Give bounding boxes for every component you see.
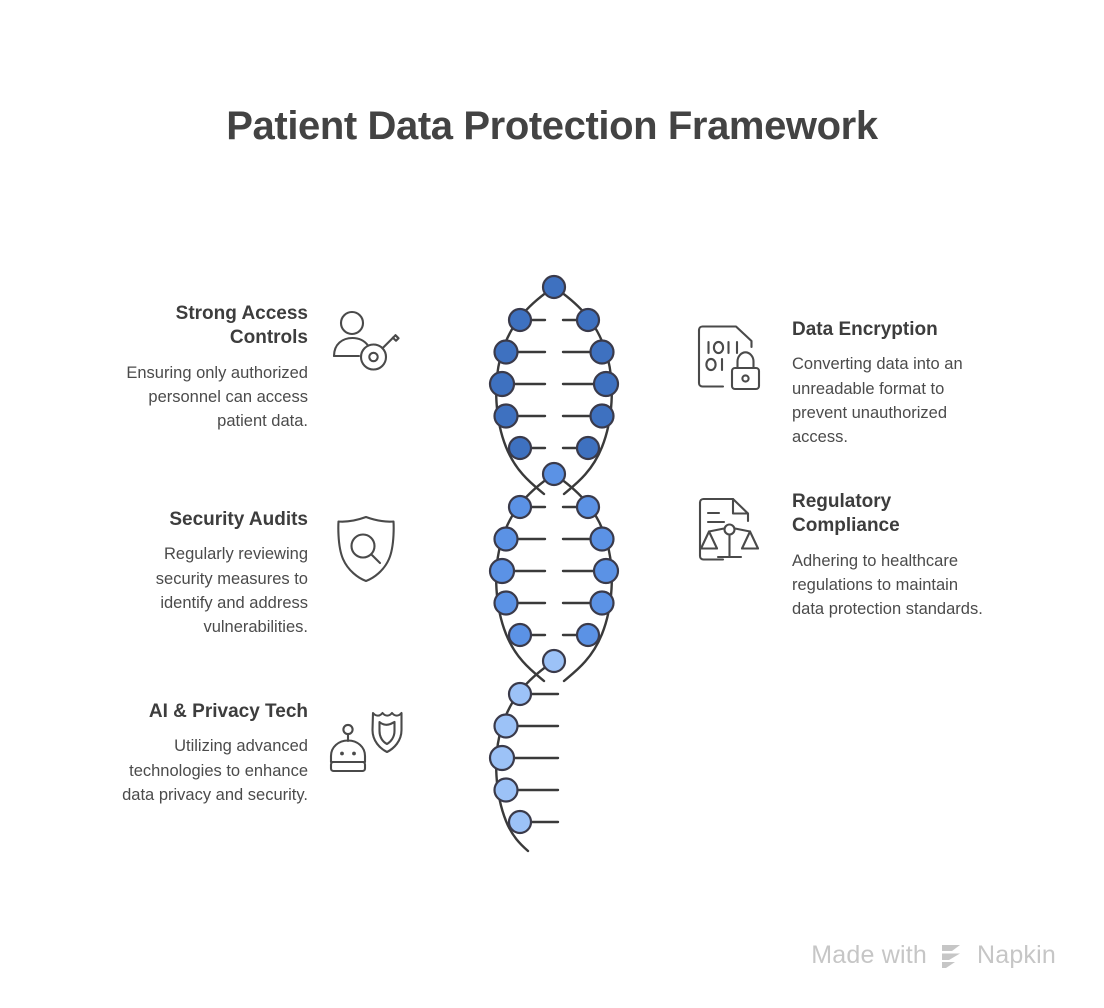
feature-item-regulatory-compliance: Regulatory Compliance Adhering to health… xyxy=(690,490,992,621)
feature-text-block: Strong Access Controls Ensuring only aut… xyxy=(108,302,308,433)
feature-title: Regulatory Compliance xyxy=(792,490,992,539)
napkin-watermark: Made with Napkin xyxy=(811,941,1056,970)
feature-title: Security Audits xyxy=(108,508,308,532)
watermark-brand: Napkin xyxy=(977,941,1056,970)
feature-text-block: AI & Privacy Tech Utilizing advanced tec… xyxy=(108,700,308,807)
robot-shield-icon xyxy=(326,700,406,780)
feature-description: Converting data into an unreadable forma… xyxy=(792,352,992,449)
feature-text-block: Security Audits Regularly reviewing secu… xyxy=(108,508,308,639)
feature-item-ai-privacy-tech: AI & Privacy Tech Utilizing advanced tec… xyxy=(108,700,406,807)
watermark-prefix: Made with xyxy=(811,941,927,970)
feature-description: Regularly reviewing security measures to… xyxy=(108,542,308,639)
dna-helix-graphic xyxy=(440,262,670,877)
napkin-logo-icon xyxy=(938,943,966,969)
shield-magnifier-icon xyxy=(326,508,406,588)
document-scales-icon xyxy=(690,490,770,570)
feature-text-block: Data Encryption Converting data into an … xyxy=(792,318,992,449)
feature-title: Data Encryption xyxy=(792,318,992,342)
feature-title: Strong Access Controls xyxy=(108,302,308,351)
feature-title: AI & Privacy Tech xyxy=(108,700,308,724)
encrypted-document-lock-icon xyxy=(690,318,770,398)
feature-description: Adhering to healthcare regulations to ma… xyxy=(792,549,992,622)
feature-item-data-encryption: Data Encryption Converting data into an … xyxy=(690,318,992,449)
feature-item-strong-access-controls: Strong Access Controls Ensuring only aut… xyxy=(108,302,406,433)
feature-text-block: Regulatory Compliance Adhering to health… xyxy=(792,490,992,621)
feature-item-security-audits: Security Audits Regularly reviewing secu… xyxy=(108,508,406,639)
feature-description: Utilizing advanced technologies to enhan… xyxy=(108,734,308,807)
person-key-icon xyxy=(326,302,406,382)
feature-description: Ensuring only authorized personnel can a… xyxy=(108,361,308,434)
page-title: Patient Data Protection Framework xyxy=(0,104,1104,149)
